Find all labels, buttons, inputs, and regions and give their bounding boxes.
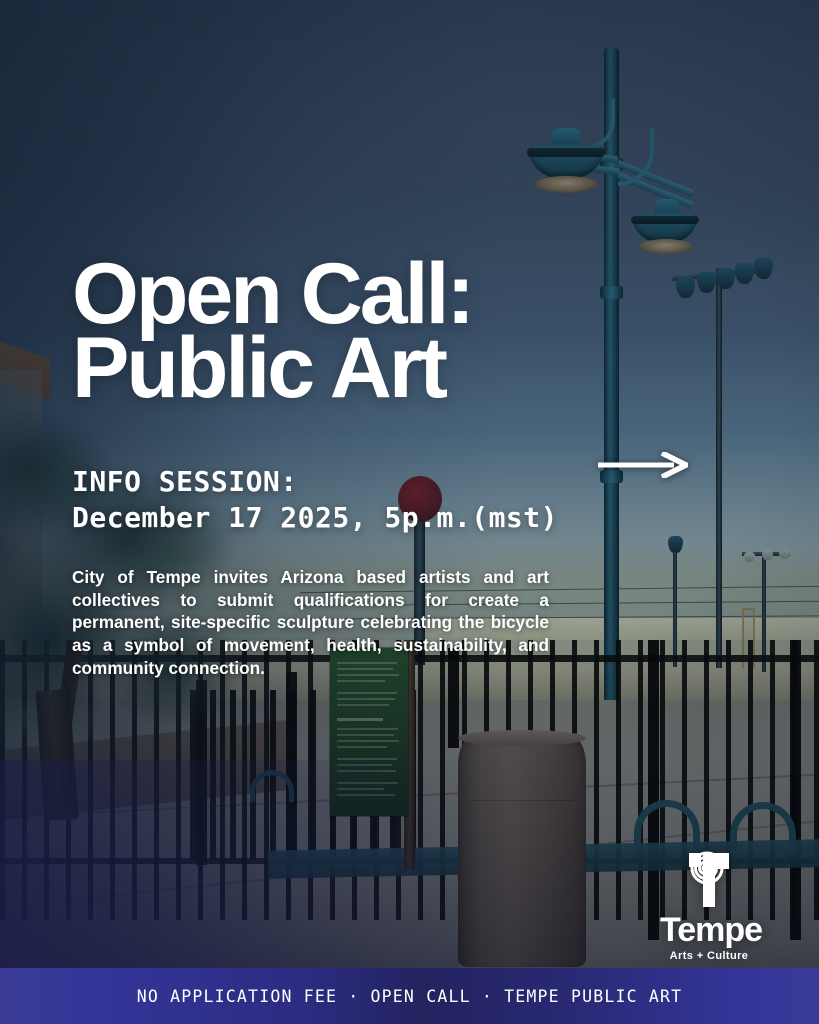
- bottom-banner: NO APPLICATION FEE · OPEN CALL · TEMPE P…: [0, 968, 819, 1024]
- tempe-wordmark: Tempe: [660, 914, 758, 947]
- info-session-label: INFO SESSION:: [72, 465, 298, 498]
- logo-tagline: Arts + Culture: [660, 950, 758, 962]
- tempe-arts-culture-logo: Tempe Arts + Culture: [660, 845, 758, 962]
- tempe-t-spiral-mark: [660, 845, 758, 912]
- right-arrow-icon: [598, 452, 688, 478]
- poster: Open Call: Public Art INFO SESSION: Dece…: [0, 0, 819, 1024]
- description-paragraph: City of Tempe invites Arizona based arti…: [72, 566, 549, 680]
- poster-content: Open Call: Public Art INFO SESSION: Dece…: [0, 0, 819, 1024]
- info-session-date: December 17 2025, 5p.m.(mst): [72, 501, 558, 534]
- page-title: Open Call: Public Art: [72, 258, 472, 406]
- banner-text: NO APPLICATION FEE · OPEN CALL · TEMPE P…: [137, 987, 683, 1006]
